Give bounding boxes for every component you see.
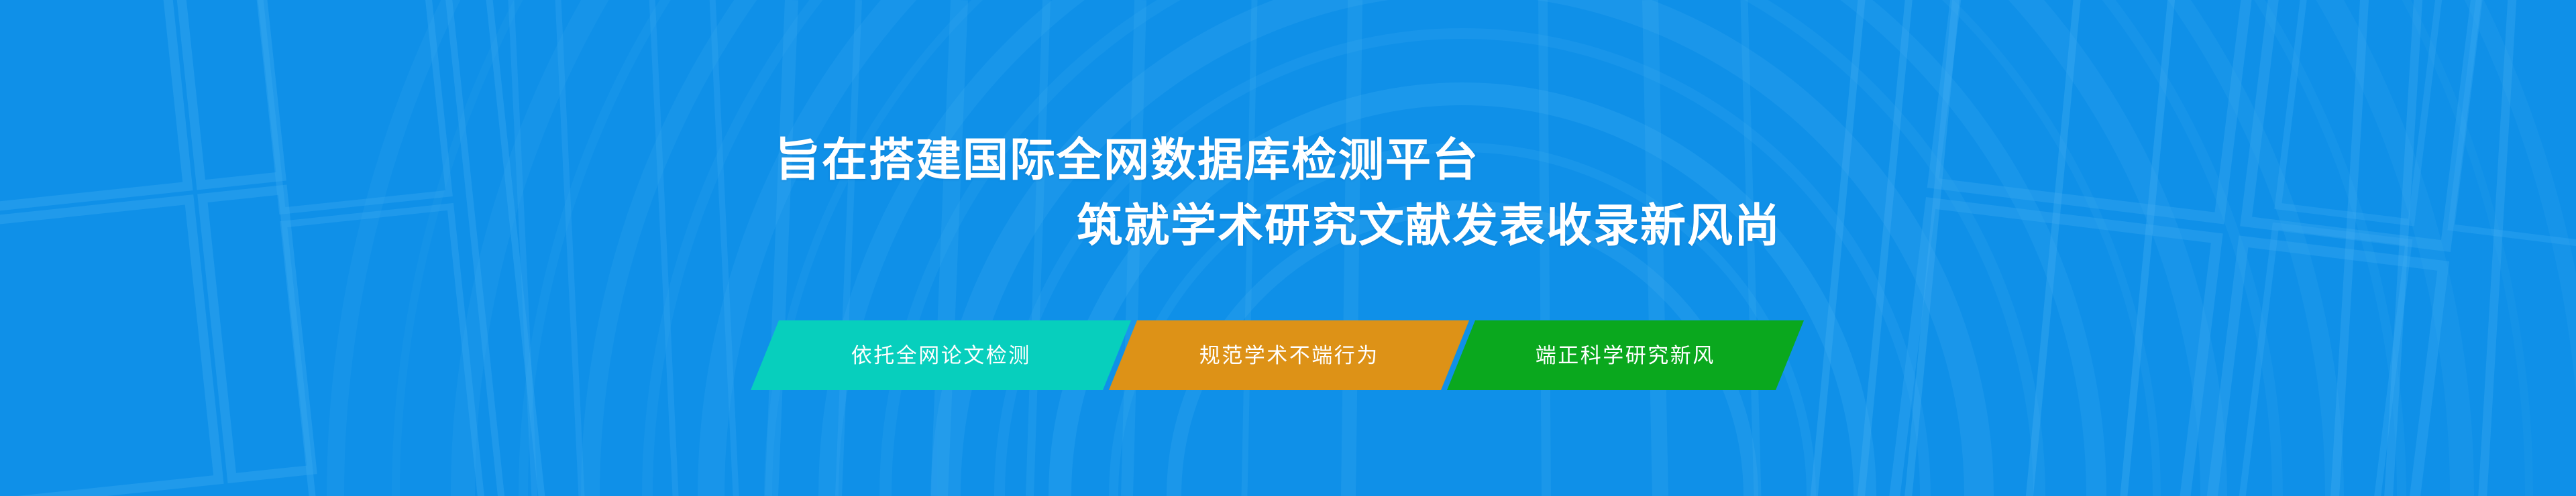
feature-tag-detection-label: 依托全网论文检测 <box>851 345 1031 366</box>
feature-tag-misconduct-label: 规范学术不端行为 <box>1199 345 1379 366</box>
feature-tag-integrity-label: 端正科学研究新风 <box>1536 345 1715 366</box>
feature-tag-misconduct[interactable]: 规范学术不端行为 <box>1109 320 1469 390</box>
feature-tag-row: 依托全网论文检测 规范学术不端行为 端正科学研究新风 <box>765 320 1790 390</box>
promo-banner: 旨在搭建国际全网数据库检测平台 筑就学术研究文献发表收录新风尚 依托全网论文检测… <box>0 0 2576 496</box>
feature-tag-detection[interactable]: 依托全网论文检测 <box>751 320 1131 390</box>
feature-tag-integrity[interactable]: 端正科学研究新风 <box>1447 320 1804 390</box>
headline-line-1: 旨在搭建国际全网数据库检测平台 <box>775 137 1479 183</box>
headline-line-2: 筑就学术研究文献发表收录新风尚 <box>1077 203 1781 249</box>
